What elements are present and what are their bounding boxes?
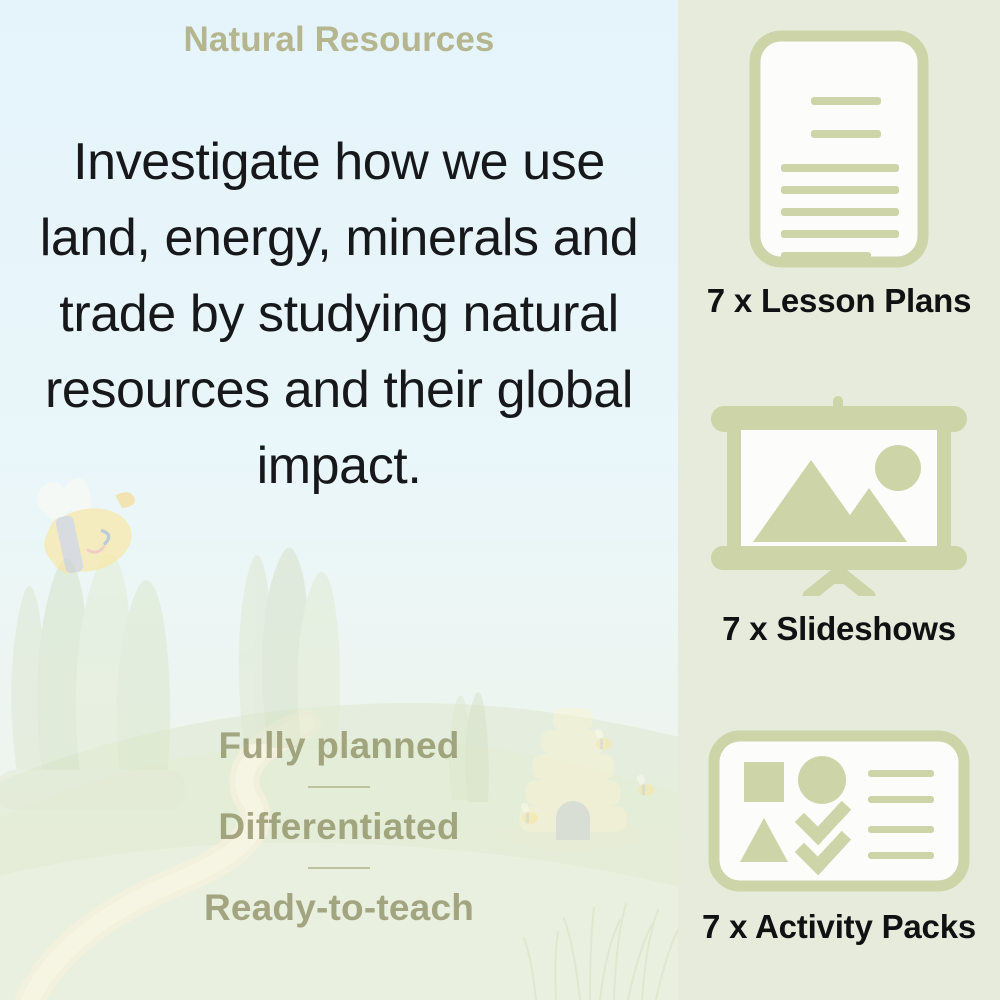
asset-label-slideshows: 7 x Slideshows (678, 610, 1000, 648)
feature-divider-0 (308, 786, 370, 788)
asset-label-activity-packs: 7 x Activity Packs (678, 908, 1000, 946)
lesson-plan-document-icon (749, 30, 929, 268)
activity-pack-card-icon (708, 730, 970, 892)
asset-label-lesson-plans: 7 x Lesson Plans (678, 282, 1000, 320)
feature-divider-1 (308, 867, 370, 869)
asset-item-lesson-plans: 7 x Lesson Plans (678, 30, 1000, 320)
asset-list-panel: 7 x Lesson Plans (678, 0, 1000, 1000)
cypress-tree-cluster-right (239, 548, 340, 750)
feature-list: Fully planned Differentiated Ready-to-te… (0, 722, 678, 932)
feature-item-0: Fully planned (0, 722, 678, 770)
page-title: Natural Resources (0, 20, 678, 60)
feature-item-2: Ready-to-teach (0, 884, 678, 932)
left-content-panel: Natural Resources Investigate how we use… (0, 0, 678, 1000)
description-text: Investigate how we use land, energy, min… (26, 124, 652, 504)
promo-graphic: Natural Resources Investigate how we use… (0, 0, 1000, 1000)
asset-item-slideshows: 7 x Slideshows (678, 396, 1000, 648)
slideshow-projector-icon (705, 396, 973, 596)
feature-item-1: Differentiated (0, 803, 678, 851)
asset-item-activity-packs: 7 x Activity Packs (678, 730, 1000, 946)
